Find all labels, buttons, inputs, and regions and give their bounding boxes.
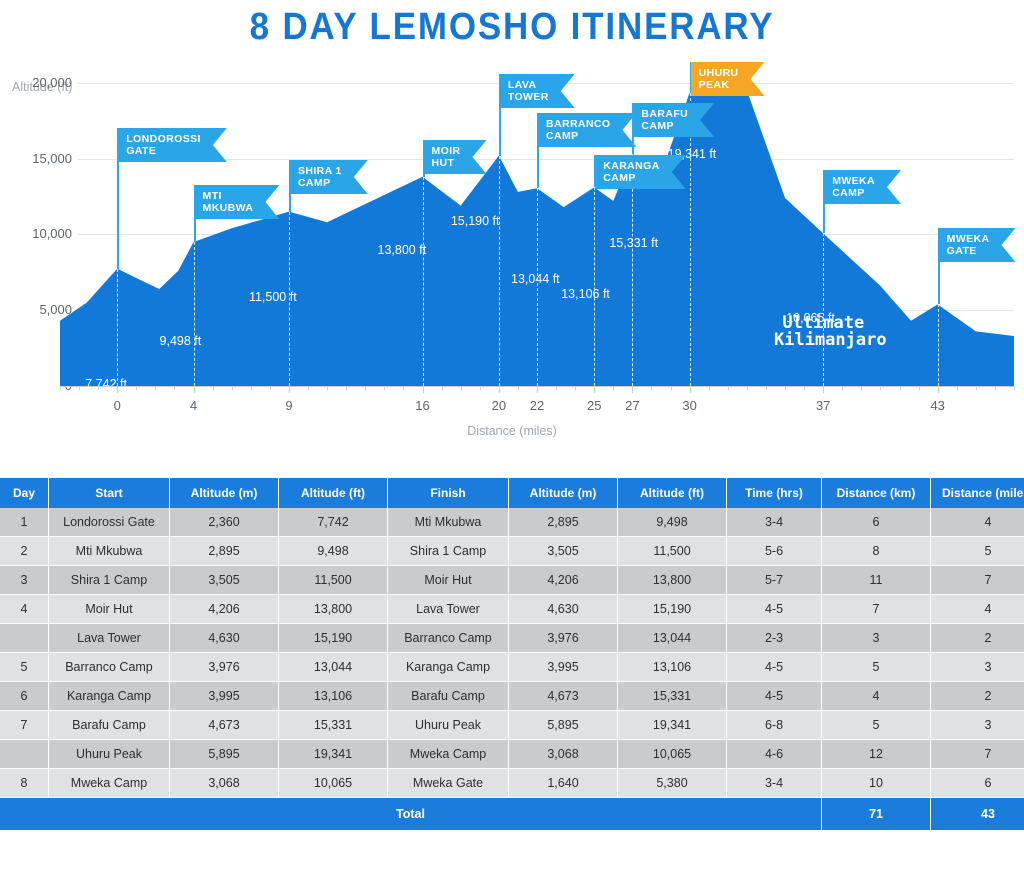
waypoint-altitude-label: 15,190 ft <box>451 214 500 228</box>
table-cell-miles: 2 <box>931 624 1024 653</box>
x-axis-tickmark <box>346 386 347 390</box>
table-cell-time: 4-5 <box>727 595 822 624</box>
table-header-row: DayStartAltitude (m)Altitude (ft)FinishA… <box>0 478 1024 508</box>
table-cell-finish-ft: 10,065 <box>618 740 727 769</box>
table-cell-finish-m: 4,206 <box>509 566 618 595</box>
x-axis-tick-label: 22 <box>530 398 544 413</box>
table-cell-finish-m: 3,976 <box>509 624 618 653</box>
x-axis-tickmark <box>651 386 652 390</box>
x-axis-tickmark <box>423 386 424 393</box>
waypoint-dashed-line <box>938 304 939 386</box>
waypoint-dashed-line <box>117 269 118 386</box>
waypoint-altitude-label: 9,498 ft <box>160 334 202 348</box>
table-cell-start-ft: 13,106 <box>279 682 388 711</box>
x-axis-tick-label: 0 <box>114 398 121 413</box>
table-cell-miles: 3 <box>931 653 1024 682</box>
logo-line-2: Kilimanjaro <box>774 332 887 349</box>
itinerary-table: DayStartAltitude (m)Altitude (ft)FinishA… <box>0 478 1024 830</box>
table-cell-miles: 3 <box>931 711 1024 740</box>
x-axis-title: Distance (miles) <box>0 424 1024 438</box>
x-axis-tickmark <box>690 386 691 393</box>
table-cell-day: 7 <box>0 711 49 740</box>
elevation-profile-chart: Altitude (ft) Distance (miles) 05,00010,… <box>0 60 1024 460</box>
x-axis-tick-label: 25 <box>587 398 601 413</box>
x-axis-tickmark <box>632 386 633 393</box>
table-cell-km: 5 <box>822 653 931 682</box>
waypoint-altitude-label: 15,331 ft <box>609 236 658 250</box>
ultimate-kilimanjaro-logo: Ultimate Kilimanjaro <box>760 315 887 349</box>
table-cell-finish-ft: 9,498 <box>618 508 727 537</box>
x-axis-tickmark <box>403 386 404 390</box>
table-cell-start-ft: 19,341 <box>279 740 388 769</box>
table-row: 5Barranco Camp3,97613,044Karanga Camp3,9… <box>0 653 1024 682</box>
table-cell-miles: 6 <box>931 769 1024 798</box>
table-cell-finish-m: 4,673 <box>509 682 618 711</box>
table-cell-finish: Lava Tower <box>388 595 509 624</box>
table-cell-start: Moir Hut <box>49 595 170 624</box>
table-cell-time: 4-6 <box>727 740 822 769</box>
x-axis-tickmark <box>804 386 805 390</box>
x-axis-tickmark <box>1014 386 1015 390</box>
table-cell-miles: 2 <box>931 682 1024 711</box>
x-axis-tickmark <box>213 386 214 390</box>
total-distance-km: 71 <box>822 798 931 831</box>
total-label: Total <box>0 798 822 831</box>
table-cell-finish-ft: 5,380 <box>618 769 727 798</box>
waypoint-altitude-label: 13,044 ft <box>511 272 560 286</box>
table-cell-finish-m: 3,505 <box>509 537 618 566</box>
waypoint-dashed-line <box>499 156 500 386</box>
table-cell-day: 5 <box>0 653 49 682</box>
table-cell-start-m: 4,673 <box>170 711 279 740</box>
x-axis-tickmark <box>575 386 576 390</box>
table-row: Uhuru Peak5,89519,341Mweka Camp3,06810,0… <box>0 740 1024 769</box>
x-axis-tickmark <box>480 386 481 390</box>
table-cell-start-m: 3,068 <box>170 769 279 798</box>
table-row: 2Mti Mkubwa2,8959,498Shira 1 Camp3,50511… <box>0 537 1024 566</box>
x-axis-tickmark <box>976 386 977 390</box>
table-column-header: Start <box>49 478 170 508</box>
table-column-header: Time (hrs) <box>727 478 822 508</box>
x-axis-tickmark <box>823 386 824 393</box>
x-axis-tickmark <box>155 386 156 390</box>
x-axis-tick-label: 30 <box>682 398 696 413</box>
x-axis-tick-label: 16 <box>415 398 429 413</box>
waypoint-altitude-label: 13,800 ft <box>378 243 427 257</box>
table-cell-start: Karanga Camp <box>49 682 170 711</box>
table-cell-start-ft: 11,500 <box>279 566 388 595</box>
x-axis-tickmark <box>537 386 538 393</box>
waypoint-dashed-line <box>823 233 824 386</box>
x-axis-tickmark <box>308 386 309 390</box>
x-axis-tickmark <box>728 386 729 390</box>
table-cell-km: 7 <box>822 595 931 624</box>
table-cell-start: Barafu Camp <box>49 711 170 740</box>
x-axis <box>60 386 1014 396</box>
x-axis-tickmark <box>327 386 328 390</box>
table-cell-start: Barranco Camp <box>49 653 170 682</box>
table-cell-start-ft: 10,065 <box>279 769 388 798</box>
table-row: 3Shira 1 Camp3,50511,500Moir Hut4,20613,… <box>0 566 1024 595</box>
x-axis-tickmark <box>98 386 99 390</box>
table-cell-km: 6 <box>822 508 931 537</box>
table-cell-start: Uhuru Peak <box>49 740 170 769</box>
table-cell-finish-m: 4,630 <box>509 595 618 624</box>
table-total-row: Total7143 <box>0 798 1024 831</box>
table-cell-finish-m: 2,895 <box>509 508 618 537</box>
x-axis-tickmark <box>499 386 500 393</box>
table-cell-km: 8 <box>822 537 931 566</box>
table-cell-day: 2 <box>0 537 49 566</box>
table-cell-finish-m: 3,068 <box>509 740 618 769</box>
table-cell-start-ft: 15,190 <box>279 624 388 653</box>
table-cell-start: Mti Mkubwa <box>49 537 170 566</box>
table-cell-day: 1 <box>0 508 49 537</box>
table-cell-start-m: 4,206 <box>170 595 279 624</box>
table-cell-day: 8 <box>0 769 49 798</box>
table-column-header: Altitude (m) <box>170 478 279 508</box>
x-axis-tickmark <box>518 386 519 390</box>
waypoint-altitude-label: 11,500 ft <box>249 290 297 304</box>
table-cell-km: 12 <box>822 740 931 769</box>
table-cell-start: Lava Tower <box>49 624 170 653</box>
table-cell-km: 4 <box>822 682 931 711</box>
x-axis-tick-label: 43 <box>930 398 944 413</box>
table-cell-time: 3-4 <box>727 769 822 798</box>
table-cell-time: 5-6 <box>727 537 822 566</box>
table-row: 8Mweka Camp3,06810,065Mweka Gate1,6405,3… <box>0 769 1024 798</box>
x-axis-tickmark <box>957 386 958 390</box>
table-cell-finish-m: 1,640 <box>509 769 618 798</box>
x-axis-tickmark <box>117 386 118 393</box>
table-cell-miles: 4 <box>931 508 1024 537</box>
table-cell-finish: Moir Hut <box>388 566 509 595</box>
plot-area: 7,742 ft9,498 ft11,500 ft13,800 ft15,190… <box>60 60 1014 386</box>
table-cell-start-ft: 7,742 <box>279 508 388 537</box>
x-axis-tickmark <box>747 386 748 390</box>
table-cell-finish-ft: 15,190 <box>618 595 727 624</box>
table-header: DayStartAltitude (m)Altitude (ft)FinishA… <box>0 478 1024 508</box>
x-axis-tickmark <box>766 386 767 390</box>
x-axis-tickmark <box>194 386 195 393</box>
x-axis-tick-label: 37 <box>816 398 830 413</box>
x-axis-tickmark <box>842 386 843 390</box>
x-axis-tickmark <box>442 386 443 390</box>
total-distance-miles: 43 <box>931 798 1024 831</box>
x-axis-tickmark <box>709 386 710 390</box>
table-cell-finish-m: 5,895 <box>509 711 618 740</box>
table-column-header: Finish <box>388 478 509 508</box>
table-cell-km: 10 <box>822 769 931 798</box>
x-axis-tickmark <box>461 386 462 390</box>
x-axis-tickmark <box>556 386 557 390</box>
table-cell-finish: Mweka Camp <box>388 740 509 769</box>
table-cell-finish-ft: 11,500 <box>618 537 727 566</box>
table-cell-miles: 7 <box>931 566 1024 595</box>
x-axis-tickmark <box>289 386 290 393</box>
waypoint-dashed-line <box>423 177 424 386</box>
table-column-header: Day <box>0 478 49 508</box>
table-row: 1Londorossi Gate2,3607,742Mti Mkubwa2,89… <box>0 508 1024 537</box>
x-axis-tickmark <box>136 386 137 390</box>
table-cell-start-m: 5,895 <box>170 740 279 769</box>
table-cell-finish: Barafu Camp <box>388 682 509 711</box>
table-cell-start-m: 3,976 <box>170 653 279 682</box>
x-axis-tickmark <box>880 386 881 390</box>
table-cell-start-ft: 13,044 <box>279 653 388 682</box>
table-cell-time: 4-5 <box>727 682 822 711</box>
table-cell-finish: Barranco Camp <box>388 624 509 653</box>
table-cell-start-m: 4,630 <box>170 624 279 653</box>
table-cell-finish-m: 3,995 <box>509 653 618 682</box>
flag-label: LONDOROSSI GATE <box>118 128 227 162</box>
waypoint-dashed-line <box>194 242 195 386</box>
x-axis-tickmark <box>861 386 862 390</box>
table-cell-day: 6 <box>0 682 49 711</box>
x-axis-tickmark <box>785 386 786 390</box>
table-body: 1Londorossi Gate2,3607,742Mti Mkubwa2,89… <box>0 508 1024 830</box>
table-cell-day: 3 <box>0 566 49 595</box>
table-cell-start-ft: 15,331 <box>279 711 388 740</box>
flag-label: BARRANCO CAMP <box>538 113 636 147</box>
table-cell-start-m: 2,895 <box>170 537 279 566</box>
table-cell-finish-ft: 15,331 <box>618 682 727 711</box>
table-cell-finish: Mweka Gate <box>388 769 509 798</box>
table-cell-start-ft: 9,498 <box>279 537 388 566</box>
table-cell-start-ft: 13,800 <box>279 595 388 624</box>
x-axis-tickmark <box>938 386 939 393</box>
table-cell-finish-ft: 13,800 <box>618 566 727 595</box>
x-axis-tickmark <box>613 386 614 390</box>
waypoint-altitude-label: 13,106 ft <box>561 287 610 301</box>
x-axis-tick-label: 27 <box>625 398 639 413</box>
x-axis-tickmark <box>251 386 252 390</box>
table-column-header: Distance (km) <box>822 478 931 508</box>
table-cell-time: 6-8 <box>727 711 822 740</box>
table-cell-km: 5 <box>822 711 931 740</box>
table-cell-time: 4-5 <box>727 653 822 682</box>
table-cell-time: 2-3 <box>727 624 822 653</box>
x-axis-tickmark <box>60 386 61 390</box>
table-column-header: Distance (miles) <box>931 478 1024 508</box>
x-axis-tickmark <box>79 386 80 390</box>
table-cell-day <box>0 740 49 769</box>
table-cell-finish: Shira 1 Camp <box>388 537 509 566</box>
x-axis-tickmark <box>365 386 366 390</box>
table-cell-start: Londorossi Gate <box>49 508 170 537</box>
table-cell-finish-ft: 13,044 <box>618 624 727 653</box>
x-axis-tickmark <box>174 386 175 390</box>
table-column-header: Altitude (m) <box>509 478 618 508</box>
table-cell-time: 3-4 <box>727 508 822 537</box>
table-cell-time: 5-7 <box>727 566 822 595</box>
table-cell-miles: 7 <box>931 740 1024 769</box>
table-cell-start-m: 3,995 <box>170 682 279 711</box>
table-cell-start-m: 3,505 <box>170 566 279 595</box>
table-column-header: Altitude (ft) <box>279 478 388 508</box>
table-column-header: Altitude (ft) <box>618 478 727 508</box>
table-cell-finish: Uhuru Peak <box>388 711 509 740</box>
x-axis-tick-label: 20 <box>492 398 506 413</box>
table-cell-miles: 5 <box>931 537 1024 566</box>
table-cell-km: 3 <box>822 624 931 653</box>
table-cell-start: Shira 1 Camp <box>49 566 170 595</box>
table-cell-finish: Karanga Camp <box>388 653 509 682</box>
x-axis-tickmark <box>232 386 233 390</box>
x-axis-tickmark <box>671 386 672 390</box>
table-cell-miles: 4 <box>931 595 1024 624</box>
page-title: 8 DAY LEMOSHO ITINERARY <box>41 6 983 49</box>
table-row: Lava Tower4,63015,190Barranco Camp3,9761… <box>0 624 1024 653</box>
table-row: 7Barafu Camp4,67315,331Uhuru Peak5,89519… <box>0 711 1024 740</box>
table-cell-start: Mweka Camp <box>49 769 170 798</box>
x-axis-tick-label: 9 <box>285 398 292 413</box>
table-cell-finish-ft: 19,341 <box>618 711 727 740</box>
table-cell-start-m: 2,360 <box>170 508 279 537</box>
table-cell-day <box>0 624 49 653</box>
x-axis-tickmark <box>995 386 996 390</box>
waypoint-dashed-line <box>537 188 538 386</box>
x-axis-tickmark <box>594 386 595 393</box>
table-cell-finish: Mti Mkubwa <box>388 508 509 537</box>
table-cell-km: 11 <box>822 566 931 595</box>
table-cell-finish-ft: 13,106 <box>618 653 727 682</box>
x-axis-tickmark <box>384 386 385 390</box>
table-row: 6Karanga Camp3,99513,106Barafu Camp4,673… <box>0 682 1024 711</box>
x-axis-tickmark <box>919 386 920 390</box>
x-axis-tick-label: 4 <box>190 398 197 413</box>
x-axis-tickmark <box>270 386 271 390</box>
table-row: 4Moir Hut4,20613,800Lava Tower4,63015,19… <box>0 595 1024 624</box>
x-axis-tickmark <box>900 386 901 390</box>
table-cell-day: 4 <box>0 595 49 624</box>
